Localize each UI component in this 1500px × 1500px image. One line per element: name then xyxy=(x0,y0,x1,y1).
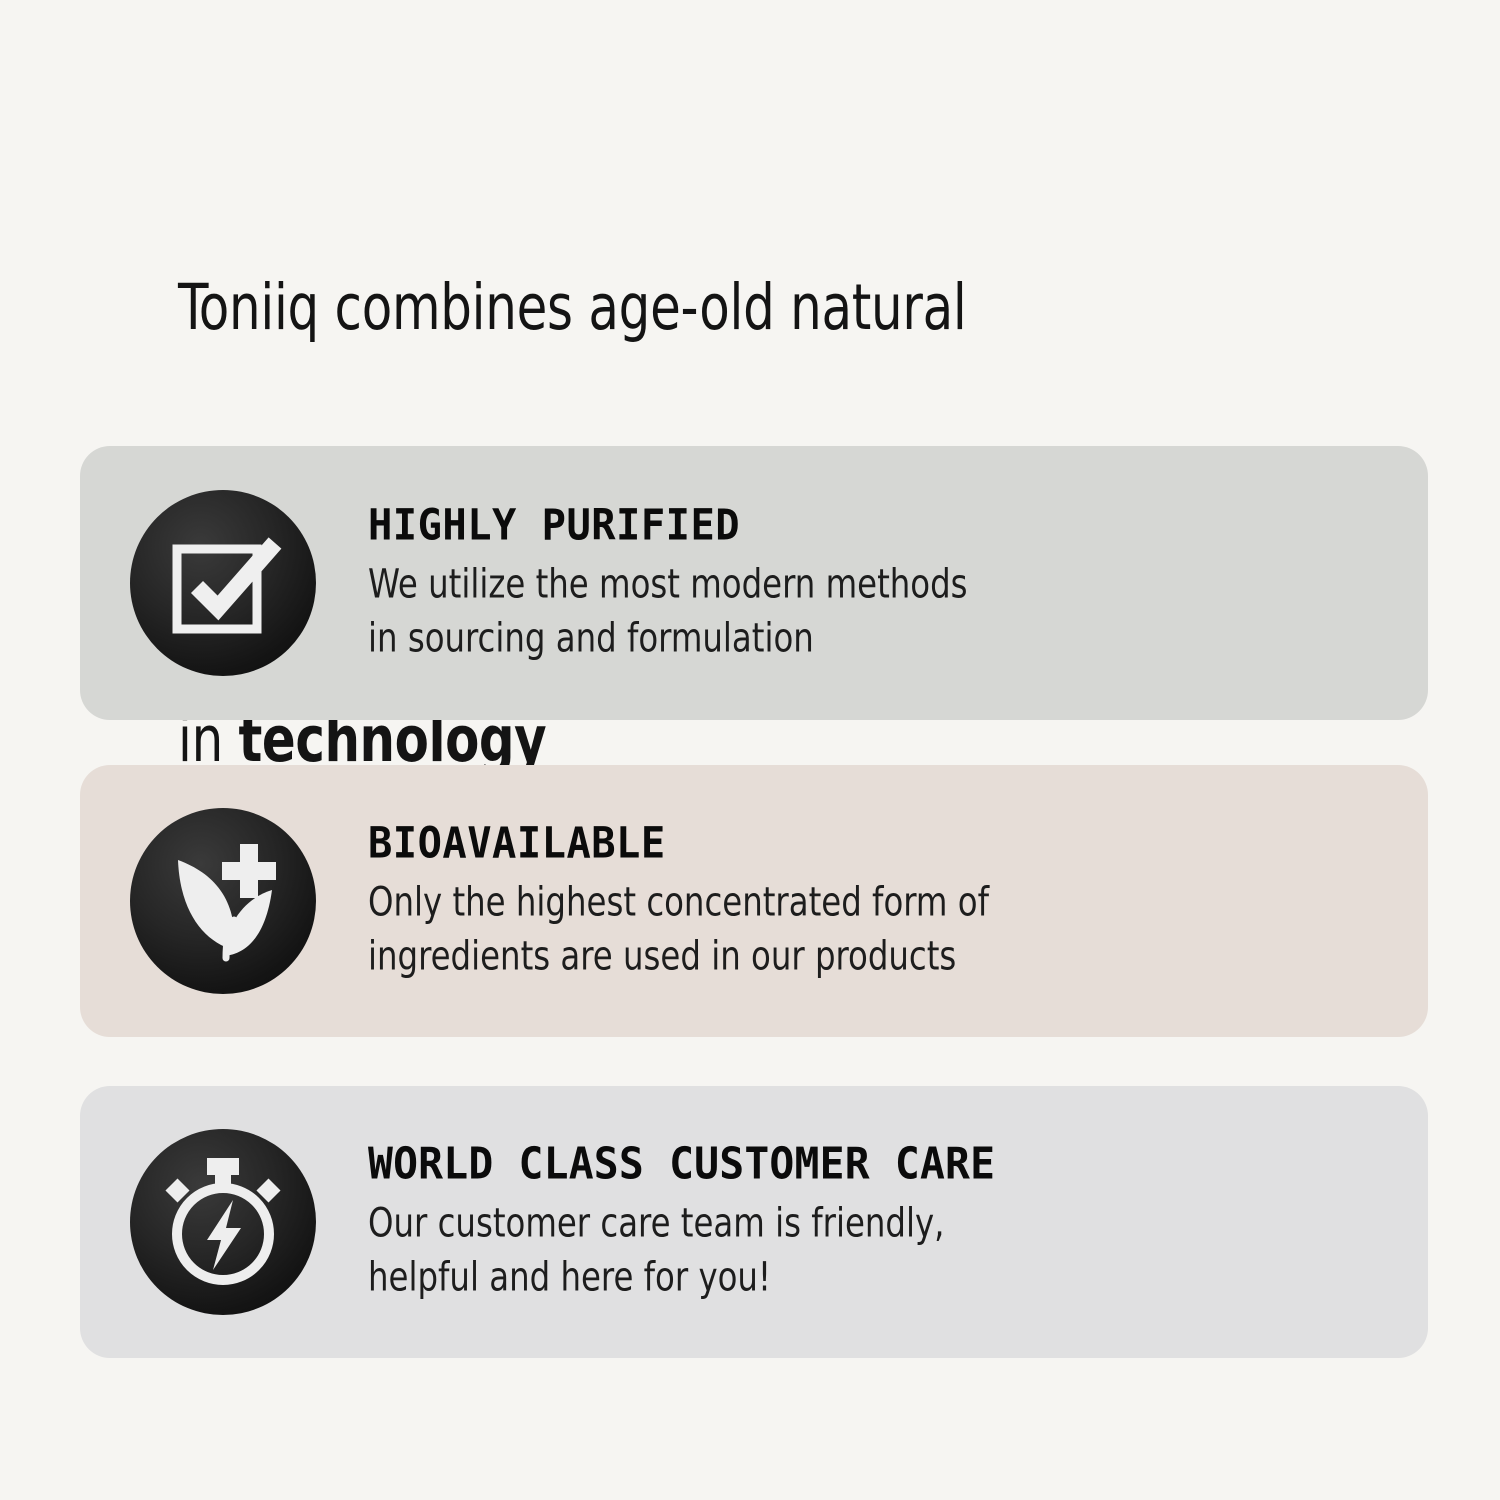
feature-card-bioavailable: BIOAVAILABLE Only the highest concentrat… xyxy=(80,765,1428,1037)
promo-page: Toniiq combines age-old natural health s… xyxy=(0,0,1500,1500)
card-title: WORLD CLASS CUSTOMER CARE xyxy=(368,1140,1327,1190)
headline-line-1: Toniiq combines age-old natural xyxy=(178,272,1128,344)
leaf-plus-icon xyxy=(130,808,316,994)
card-text-block: BIOAVAILABLE Only the highest concentrat… xyxy=(368,819,1388,984)
card-description: Our customer care team is friendly, help… xyxy=(368,1197,1286,1305)
card-title: HIGHLY PURIFIED xyxy=(368,501,1327,551)
feature-card-world-class-customer-care: WORLD CLASS CUSTOMER CARE Our customer c… xyxy=(80,1086,1428,1358)
card-description: Only the highest concentrated form of in… xyxy=(368,876,1286,984)
card-title: BIOAVAILABLE xyxy=(368,819,1327,869)
checkbox-check-icon xyxy=(130,490,316,676)
card-description: We utilize the most modern methods in so… xyxy=(368,558,1286,666)
stopwatch-bolt-icon xyxy=(130,1129,316,1315)
card-text-block: HIGHLY PURIFIED We utilize the most mode… xyxy=(368,501,1388,666)
feature-card-highly-purified: HIGHLY PURIFIED We utilize the most mode… xyxy=(80,446,1428,720)
card-text-block: WORLD CLASS CUSTOMER CARE Our customer c… xyxy=(368,1140,1388,1305)
